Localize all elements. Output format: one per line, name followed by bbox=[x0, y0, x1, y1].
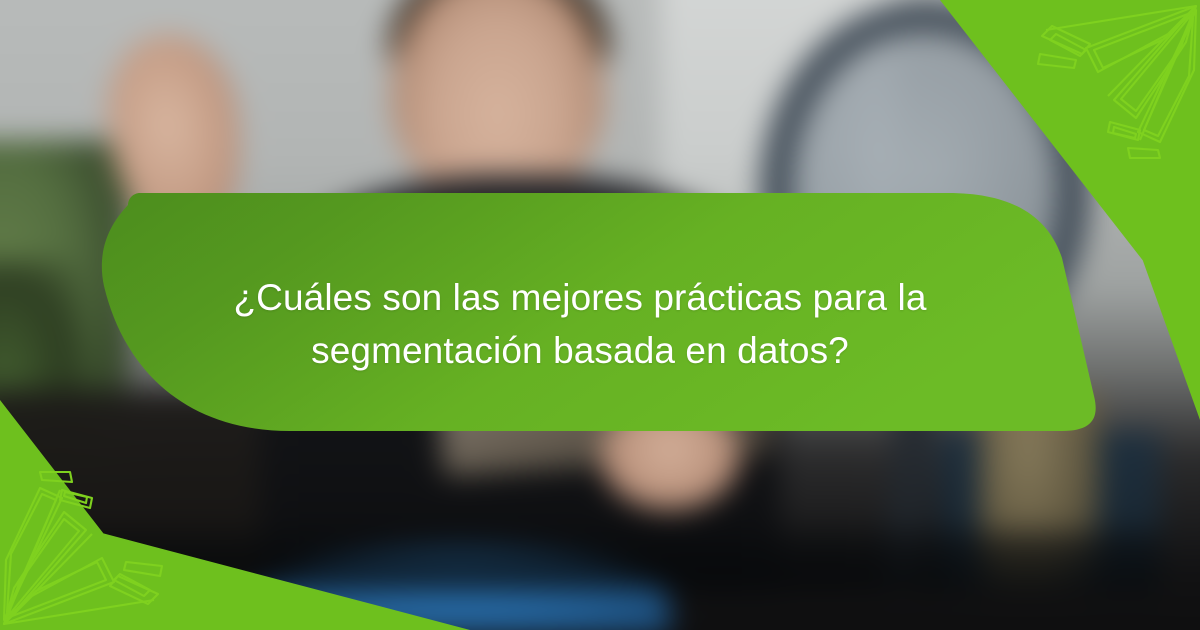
background-lower-hand bbox=[600, 400, 740, 510]
banner-title-line-1: ¿Cuáles son las mejores prácticas para l… bbox=[140, 272, 1020, 325]
banner-title-line-2: segmentación basada en datos? bbox=[140, 325, 1020, 378]
social-share-card: ¿Cuáles son las mejores prácticas para l… bbox=[0, 0, 1200, 630]
banner-title: ¿Cuáles son las mejores prácticas para l… bbox=[140, 272, 1020, 377]
